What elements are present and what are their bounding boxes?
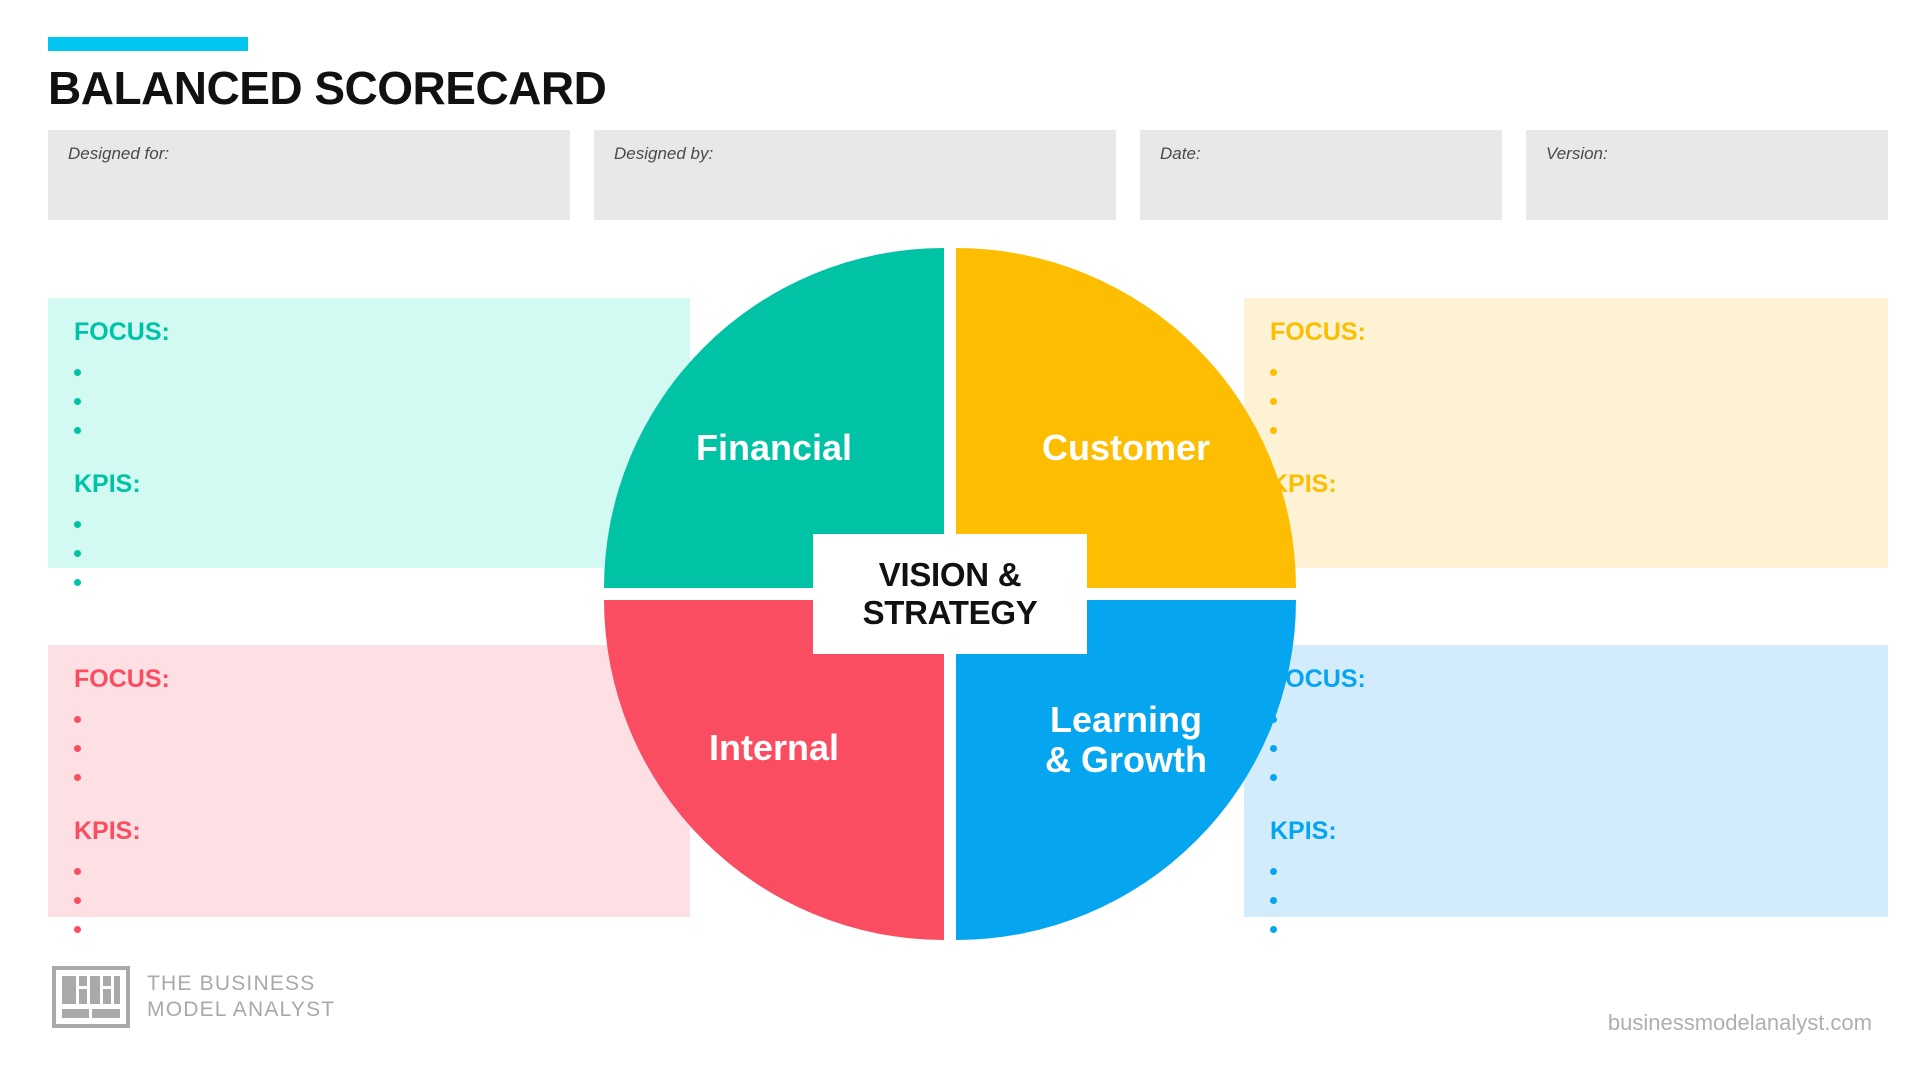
list-item[interactable]: [1270, 540, 1888, 569]
panel-learning-growth[interactable]: FOCUS: KPIS:: [1244, 645, 1888, 917]
designed-for-label: Designed for:: [68, 144, 169, 164]
list-item[interactable]: [1270, 916, 1888, 945]
designed-for-field[interactable]: Designed for:: [48, 130, 570, 220]
page-title: BALANCED SCORECARD: [48, 65, 606, 111]
internal-kpis-list[interactable]: [74, 858, 690, 945]
quadrant-learning-growth-label: Learning & Growth: [956, 700, 1296, 781]
brand-logo-group: THE BUSINESS MODEL ANALYST: [52, 966, 335, 1028]
customer-focus-block: FOCUS: KPIS:: [1244, 320, 1888, 598]
list-item[interactable]: [1270, 858, 1888, 887]
list-item[interactable]: [74, 569, 690, 598]
balanced-scorecard-canvas: BALANCED SCORECARD Designed for: Designe…: [0, 0, 1920, 1080]
list-item[interactable]: [74, 764, 690, 793]
list-item[interactable]: [1270, 511, 1888, 540]
brand-line-1: THE BUSINESS: [147, 971, 335, 997]
customer-kpis-title: KPIS:: [1270, 472, 1888, 497]
learning-kpis-title: KPIS:: [1270, 819, 1888, 844]
quadrant-learning-line2: & Growth: [1045, 739, 1207, 780]
customer-focus-title: FOCUS:: [1270, 320, 1888, 345]
learning-focus-title: FOCUS:: [1270, 667, 1888, 692]
list-item[interactable]: [1270, 569, 1888, 598]
list-item[interactable]: [74, 388, 690, 417]
business-model-analyst-logo-icon: [52, 966, 130, 1028]
financial-focus-title: FOCUS:: [74, 320, 690, 345]
financial-focus-list[interactable]: [74, 359, 690, 446]
vision-strategy-box: VISION & STRATEGY: [813, 534, 1087, 654]
quadrant-learning-line1: Learning: [1050, 699, 1202, 740]
list-item[interactable]: [74, 858, 690, 887]
panel-customer[interactable]: FOCUS: KPIS:: [1244, 298, 1888, 568]
quadrant-internal-label: Internal: [604, 728, 944, 768]
financial-kpis-list[interactable]: [74, 511, 690, 598]
scorecard-circle-diagram: Financial Customer Internal Learning & G…: [604, 248, 1296, 940]
internal-kpis-title: KPIS:: [74, 819, 690, 844]
list-item[interactable]: [1270, 887, 1888, 916]
version-field[interactable]: Version:: [1526, 130, 1888, 220]
list-item[interactable]: [1270, 388, 1888, 417]
quadrant-financial-label: Financial: [604, 428, 944, 468]
version-label: Version:: [1546, 144, 1608, 164]
brand-name: THE BUSINESS MODEL ANALYST: [147, 971, 335, 1024]
list-item[interactable]: [74, 735, 690, 764]
panel-internal[interactable]: FOCUS: KPIS:: [48, 645, 690, 917]
list-item[interactable]: [1270, 706, 1888, 735]
panel-financial[interactable]: FOCUS: KPIS:: [48, 298, 690, 568]
internal-focus-list[interactable]: [74, 706, 690, 793]
date-label: Date:: [1160, 144, 1201, 164]
list-item[interactable]: [74, 916, 690, 945]
list-item[interactable]: [74, 417, 690, 446]
list-item[interactable]: [1270, 735, 1888, 764]
list-item[interactable]: [1270, 417, 1888, 446]
list-item[interactable]: [74, 706, 690, 735]
designed-by-field[interactable]: Designed by:: [594, 130, 1116, 220]
vision-strategy-text: VISION & STRATEGY: [863, 556, 1038, 631]
learning-focus-block: FOCUS: KPIS:: [1244, 667, 1888, 945]
date-field[interactable]: Date:: [1140, 130, 1502, 220]
quadrant-customer-label: Customer: [956, 428, 1296, 468]
title-accent-bar: [48, 37, 248, 51]
designed-by-label: Designed by:: [614, 144, 713, 164]
list-item[interactable]: [1270, 764, 1888, 793]
list-item[interactable]: [74, 540, 690, 569]
internal-focus-title: FOCUS:: [74, 667, 690, 692]
brand-line-2: MODEL ANALYST: [147, 997, 335, 1023]
list-item[interactable]: [74, 359, 690, 388]
metadata-row: Designed for: Designed by: Date: Version…: [0, 130, 1920, 220]
learning-kpis-list[interactable]: [1270, 858, 1888, 945]
financial-kpis-title: KPIS:: [74, 472, 690, 497]
list-item[interactable]: [1270, 359, 1888, 388]
internal-focus-block: FOCUS: KPIS:: [48, 667, 690, 945]
list-item[interactable]: [74, 887, 690, 916]
vision-line1: VISION &: [879, 556, 1021, 593]
vision-line2: STRATEGY: [863, 594, 1038, 631]
financial-focus-block: FOCUS: KPIS:: [48, 320, 690, 598]
learning-focus-list[interactable]: [1270, 706, 1888, 793]
website-url: businessmodelanalyst.com: [1608, 1010, 1872, 1036]
customer-focus-list[interactable]: [1270, 359, 1888, 446]
list-item[interactable]: [74, 511, 690, 540]
customer-kpis-list[interactable]: [1270, 511, 1888, 598]
